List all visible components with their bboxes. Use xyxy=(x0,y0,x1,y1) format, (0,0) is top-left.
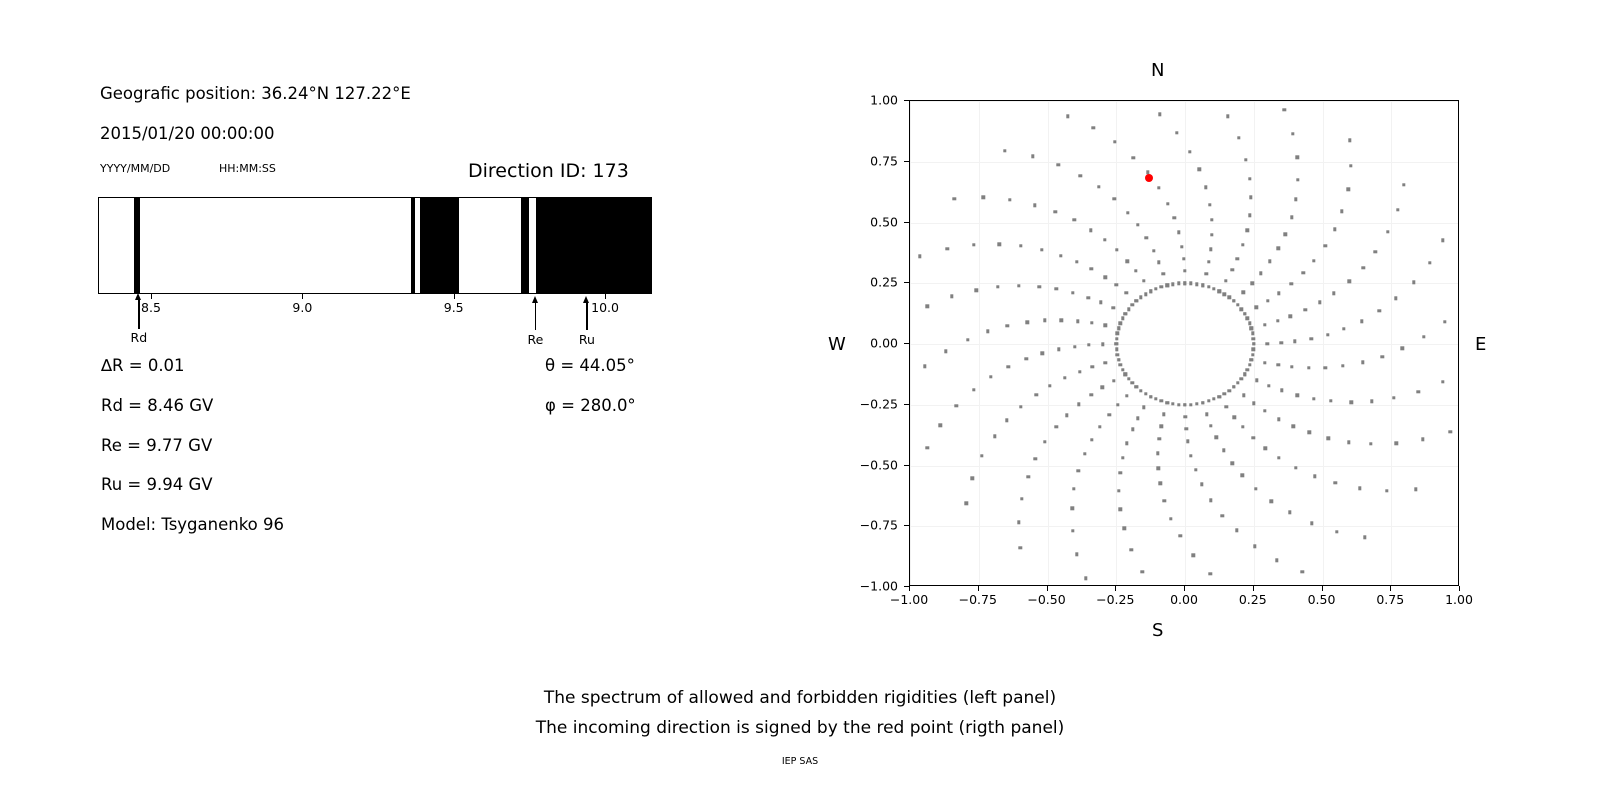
direction-dot xyxy=(1210,218,1213,221)
direction-dot xyxy=(1252,342,1255,345)
direction-dot xyxy=(1230,268,1233,271)
direction-dot xyxy=(1428,261,1431,264)
direction-dot xyxy=(1177,231,1180,234)
direction-dot xyxy=(1396,208,1399,211)
direction-dot xyxy=(1026,475,1029,478)
x-axis-tick-label: −0.25 xyxy=(1096,592,1134,607)
direction-dot xyxy=(953,197,956,200)
direction-dot xyxy=(1117,489,1120,492)
direction-dot xyxy=(1182,257,1185,260)
y-axis-tick-label: −0.75 xyxy=(860,518,898,533)
direction-dot xyxy=(1142,406,1145,409)
direction-dot xyxy=(1224,279,1227,282)
direction-dot xyxy=(1142,279,1145,282)
direction-dot xyxy=(1116,332,1119,335)
direction-dot xyxy=(1346,188,1349,191)
direction-dot xyxy=(1129,548,1132,551)
direction-dot xyxy=(1065,413,1068,416)
direction-dot xyxy=(1307,366,1310,369)
direction-dot xyxy=(1033,204,1036,207)
y-axis-tick-label: −0.50 xyxy=(860,457,898,472)
direction-dot xyxy=(1198,168,1201,171)
y-axis-tick-label: 1.00 xyxy=(870,93,898,108)
direction-dot xyxy=(1244,158,1247,161)
direction-dot xyxy=(1340,209,1343,212)
direction-dot xyxy=(1145,236,1148,239)
direction-dot xyxy=(1126,211,1129,214)
direction-dot xyxy=(1157,466,1160,469)
direction-dot xyxy=(1347,440,1350,443)
direction-dot xyxy=(944,350,947,353)
x-axis-tick xyxy=(1184,586,1185,591)
direction-dot xyxy=(1103,238,1106,241)
direction-dot xyxy=(986,330,989,333)
rigidity-axis-tick xyxy=(605,294,606,299)
direction-dot xyxy=(1255,306,1258,309)
forbidden-band xyxy=(536,198,652,293)
y-axis-tick-label: 0.00 xyxy=(870,336,898,351)
direction-dot xyxy=(1209,424,1212,427)
direction-dot xyxy=(1132,156,1135,159)
direction-dot xyxy=(1277,247,1280,250)
direction-dot xyxy=(1134,269,1137,272)
direction-dot xyxy=(1090,393,1093,396)
direction-dot xyxy=(1277,456,1280,459)
direction-dot xyxy=(1019,405,1022,408)
direction-dot xyxy=(1054,287,1057,290)
forbidden-band xyxy=(420,198,459,293)
direction-dot xyxy=(1250,358,1253,361)
gridline-vertical xyxy=(1048,101,1049,585)
direction-dot xyxy=(1443,320,1446,323)
direction-dot xyxy=(1361,266,1364,269)
direction-dot xyxy=(980,454,983,457)
direction-dot xyxy=(1253,544,1256,547)
datetime-label: 2015/01/20 00:00:00 xyxy=(100,124,274,143)
direction-dot xyxy=(1333,228,1336,231)
direction-dot xyxy=(1441,239,1444,242)
direction-dot xyxy=(1245,228,1248,231)
direction-dot xyxy=(1177,403,1180,406)
direction-dot xyxy=(926,304,929,307)
direction-dot xyxy=(1341,364,1344,367)
direction-dot xyxy=(1090,438,1093,441)
direction-dot xyxy=(1232,415,1235,418)
direction-dot xyxy=(1251,332,1254,335)
direction-dot xyxy=(1059,254,1062,257)
rigidity-axis-tick xyxy=(454,294,455,299)
direction-dot xyxy=(1209,499,1212,502)
rigidity-marker-ru-label: Ru xyxy=(579,332,595,347)
direction-dot xyxy=(1392,396,1395,399)
direction-dot xyxy=(1116,403,1119,406)
direction-dot xyxy=(1254,487,1257,490)
direction-dot xyxy=(1267,384,1270,387)
direction-dot xyxy=(1209,248,1212,251)
direction-dot xyxy=(1123,527,1126,530)
direction-dot xyxy=(1131,428,1134,431)
y-axis-tick-label: 0.50 xyxy=(870,214,898,229)
direction-dot xyxy=(966,338,969,341)
x-axis-tick-label: 1.00 xyxy=(1445,592,1473,607)
rigidity-spectrum-panel: Geografic position: 36.24°N 127.22°E 201… xyxy=(0,0,740,660)
direction-dot xyxy=(1301,271,1304,274)
direction-dot xyxy=(1117,327,1120,330)
y-axis-tick xyxy=(904,100,909,101)
direction-dot xyxy=(1207,399,1210,402)
direction-dot xyxy=(1020,497,1023,500)
direction-dot xyxy=(1289,315,1292,318)
direction-dot xyxy=(1121,317,1124,320)
x-axis-tick xyxy=(1047,586,1048,591)
direction-dot xyxy=(1242,394,1245,397)
direction-dot xyxy=(1118,508,1121,511)
y-axis-tick xyxy=(904,282,909,283)
direction-dot xyxy=(1324,366,1327,369)
direction-dot xyxy=(1159,425,1162,428)
arrow-shaft xyxy=(586,302,587,330)
direction-dot xyxy=(1381,355,1384,358)
direction-dot xyxy=(1171,282,1174,285)
direction-dot xyxy=(1416,390,1419,393)
direction-dot xyxy=(1268,260,1271,263)
direction-dot xyxy=(1152,249,1155,252)
rigidity-axis-tick xyxy=(302,294,303,299)
direction-dot xyxy=(1395,442,1398,445)
direction-dot xyxy=(1079,174,1082,177)
direction-dot xyxy=(1248,322,1251,325)
direction-dot xyxy=(971,477,974,480)
direction-dot xyxy=(1115,348,1118,351)
direction-dot xyxy=(1173,216,1176,219)
direction-dot xyxy=(1212,397,1215,400)
direction-dot xyxy=(1241,291,1244,294)
direction-dot xyxy=(1179,534,1182,537)
direction-dot xyxy=(1189,282,1192,285)
direction-dot xyxy=(1236,381,1239,384)
direction-dot xyxy=(1246,368,1249,371)
direction-dot xyxy=(1169,517,1172,520)
direction-dot xyxy=(1071,506,1074,509)
direction-dot xyxy=(1275,558,1278,561)
direction-dot xyxy=(1280,389,1283,392)
param-re: Re = 9.77 GV xyxy=(101,436,212,455)
y-axis-tick-label: 0.75 xyxy=(870,153,898,168)
direction-dot xyxy=(1236,257,1239,260)
direction-map-panel: N W E S −1.00−0.75−0.50−0.250.000.250.50… xyxy=(820,40,1540,650)
direction-dot xyxy=(1288,511,1291,514)
direction-dot xyxy=(1098,425,1101,428)
direction-dot xyxy=(1162,272,1165,275)
direction-dot xyxy=(1263,409,1266,412)
direction-dot xyxy=(1421,438,1424,441)
rigidity-marker-re-arrow xyxy=(528,296,542,330)
direction-dot xyxy=(1204,185,1207,188)
direction-dot xyxy=(1358,486,1361,489)
direction-dot xyxy=(945,247,948,250)
direction-dot xyxy=(1312,259,1315,262)
direction-dot xyxy=(1175,131,1178,134)
y-axis-tick-label: 0.25 xyxy=(870,275,898,290)
direction-dot xyxy=(965,501,968,504)
direction-dot xyxy=(1090,321,1093,324)
direction-dot xyxy=(1035,393,1038,396)
direction-dot xyxy=(1126,259,1129,262)
direction-dot xyxy=(1131,381,1134,384)
direction-dot xyxy=(1248,177,1251,180)
direction-dot xyxy=(1296,156,1299,159)
direction-dot xyxy=(996,285,999,288)
direction-dot xyxy=(1043,319,1046,322)
direction-dot xyxy=(1207,285,1210,288)
param-ru: Ru = 9.94 GV xyxy=(101,475,213,494)
forbidden-band xyxy=(521,198,529,293)
direction-dot xyxy=(1083,452,1086,455)
direction-dot xyxy=(1223,392,1226,395)
direction-dot xyxy=(1250,327,1253,330)
gridline-horizontal xyxy=(910,101,1458,102)
direction-dot xyxy=(1139,389,1142,392)
rigidity-axis: 8.59.09.510.0RdReRu xyxy=(98,294,652,346)
param-rd: Rd = 8.46 GV xyxy=(101,396,213,415)
direction-dot xyxy=(1017,521,1020,524)
direction-dot xyxy=(1283,233,1286,236)
gridline-vertical xyxy=(979,101,980,585)
direction-dot xyxy=(1266,299,1269,302)
direction-dot xyxy=(1277,291,1280,294)
direction-dot xyxy=(1227,296,1230,299)
direction-dot xyxy=(1026,321,1029,324)
direction-dot xyxy=(1114,283,1117,286)
direction-scatter-plot xyxy=(909,100,1459,586)
direction-dot xyxy=(1163,499,1166,502)
direction-dot xyxy=(1119,471,1122,474)
direction-dot xyxy=(1149,290,1152,293)
direction-dot xyxy=(1347,280,1350,283)
direction-dot xyxy=(1072,218,1075,221)
direction-dot xyxy=(1135,299,1138,302)
param-theta: θ = 44.05° xyxy=(545,356,635,375)
direction-dot xyxy=(1412,280,1415,283)
direction-dot xyxy=(1402,183,1405,186)
direction-dot xyxy=(1361,361,1364,364)
direction-dot xyxy=(1290,365,1293,368)
direction-dot xyxy=(1125,394,1128,397)
direction-dot xyxy=(1349,164,1352,167)
direction-dot xyxy=(1158,437,1161,440)
gridline-vertical xyxy=(910,101,911,585)
direction-dot xyxy=(1091,365,1094,368)
direction-dot xyxy=(1092,126,1095,129)
direction-dot xyxy=(1072,487,1075,490)
x-axis-tick xyxy=(1115,586,1116,591)
direction-dot xyxy=(1218,290,1221,293)
direction-dot xyxy=(1008,198,1011,201)
direction-dot xyxy=(993,435,996,438)
direction-dot xyxy=(1342,327,1345,330)
direction-dot xyxy=(1241,243,1244,246)
direction-dot xyxy=(1255,379,1258,382)
gridline-horizontal xyxy=(910,466,1458,467)
direction-dot xyxy=(1188,150,1191,153)
direction-dot xyxy=(1252,402,1255,405)
direction-dot xyxy=(1276,319,1279,322)
direction-dot xyxy=(1149,395,1152,398)
direction-dot xyxy=(1290,282,1293,285)
direction-dot xyxy=(1019,546,1022,549)
direction-dot xyxy=(1332,292,1335,295)
direction-dot xyxy=(1090,267,1093,270)
direction-dot xyxy=(1159,482,1162,485)
direction-dot xyxy=(1184,415,1187,418)
direction-dot xyxy=(1166,202,1169,205)
direction-dot xyxy=(1189,403,1192,406)
direction-dot xyxy=(1329,399,1332,402)
x-axis-tick xyxy=(1322,586,1323,591)
direction-dot xyxy=(1348,139,1351,142)
direction-dot xyxy=(1360,319,1363,322)
x-axis-tick-label: −0.50 xyxy=(1027,592,1065,607)
rigidity-axis-tick-label: 10.0 xyxy=(591,300,619,315)
direction-dot xyxy=(1310,522,1313,525)
direction-dot xyxy=(1103,275,1106,278)
direction-dot xyxy=(1241,425,1244,428)
direction-dot xyxy=(1113,197,1116,200)
direction-dot xyxy=(1075,552,1078,555)
gridline-horizontal xyxy=(910,162,1458,163)
forbidden-band xyxy=(134,198,140,293)
direction-dot xyxy=(1112,379,1115,382)
direction-dot xyxy=(998,243,1001,246)
direction-dot xyxy=(1370,400,1373,403)
direction-dot xyxy=(1212,287,1215,290)
y-axis-tick xyxy=(904,465,909,466)
param-model: Model: Tsyganenko 96 xyxy=(101,515,284,534)
rigidity-marker-re-label: Re xyxy=(528,332,544,347)
direction-dot xyxy=(1048,384,1051,387)
direction-dot xyxy=(1121,368,1124,371)
direction-dot xyxy=(1115,337,1118,340)
direction-dot xyxy=(1119,322,1122,325)
direction-dot xyxy=(1063,376,1066,379)
direction-dot xyxy=(1084,577,1087,580)
gridline-vertical xyxy=(1185,101,1186,585)
direction-dot xyxy=(1136,416,1139,419)
direction-dot xyxy=(1292,425,1295,428)
direction-dot xyxy=(1078,370,1081,373)
direction-dot xyxy=(1136,223,1139,226)
direction-dot xyxy=(1251,353,1254,356)
direction-dot xyxy=(1127,307,1130,310)
direction-dot xyxy=(1166,401,1169,404)
direction-dot xyxy=(1232,299,1235,302)
direction-dot xyxy=(1194,468,1197,471)
direction-dot xyxy=(1125,442,1128,445)
direction-dot xyxy=(1057,163,1060,166)
rigidity-marker-rd-arrow xyxy=(132,293,146,329)
direction-dot xyxy=(1248,213,1251,216)
x-axis-tick xyxy=(1390,586,1391,591)
caption-line-2: The incoming direction is signed by the … xyxy=(0,718,1600,738)
direction-dot xyxy=(1005,419,1008,422)
direction-dot xyxy=(972,243,975,246)
direction-dot xyxy=(1240,307,1243,310)
direction-dot xyxy=(1277,417,1280,420)
direction-dot xyxy=(1246,317,1249,320)
direction-dot xyxy=(1071,291,1074,294)
direction-dot xyxy=(1201,284,1204,287)
direction-dot xyxy=(1369,442,1372,445)
gridline-vertical xyxy=(1391,101,1392,585)
direction-dot xyxy=(1186,439,1189,442)
direction-dot xyxy=(1108,413,1111,416)
param-delta-r: ∆R = 0.01 xyxy=(101,356,185,375)
param-phi: φ = 280.0° xyxy=(545,396,636,415)
direction-dot xyxy=(1280,341,1283,344)
direction-dot xyxy=(1104,324,1107,327)
x-axis-tick-label: −1.00 xyxy=(890,592,928,607)
direction-dot xyxy=(1249,196,1252,199)
direction-dot xyxy=(1207,260,1210,263)
time-format-hint: HH:MM:SS xyxy=(219,162,276,175)
direction-dot xyxy=(1034,457,1037,460)
rigidity-marker-rd-label: Rd xyxy=(131,330,148,345)
rigidity-spectrum-bar xyxy=(98,197,652,294)
direction-dot xyxy=(1363,535,1366,538)
x-axis-tick xyxy=(909,586,910,591)
rigidity-marker-ru-arrow xyxy=(580,296,594,330)
compass-east-label: E xyxy=(1475,334,1486,355)
rigidity-axis-tick-label: 9.5 xyxy=(444,300,464,315)
direction-dot xyxy=(1201,401,1204,404)
direction-dot xyxy=(1166,284,1169,287)
direction-dot xyxy=(1119,363,1122,366)
direction-dot xyxy=(1400,346,1403,349)
direction-dot xyxy=(1252,337,1255,340)
direction-dot xyxy=(1115,248,1118,251)
gridline-horizontal xyxy=(910,526,1458,527)
direction-dot xyxy=(926,446,929,449)
direction-dot xyxy=(1006,365,1009,368)
direction-dot xyxy=(972,388,975,391)
rigidity-axis-tick xyxy=(151,294,152,299)
direction-dot xyxy=(1162,413,1165,416)
direction-dot xyxy=(1073,345,1076,348)
direction-dot xyxy=(1104,361,1107,364)
direction-dot xyxy=(1310,337,1313,340)
direction-dot xyxy=(1125,291,1128,294)
arrow-shaft xyxy=(535,302,536,330)
direction-dot xyxy=(1117,358,1120,361)
direction-dot xyxy=(1183,282,1186,285)
direction-dot xyxy=(1208,203,1211,206)
direction-dot xyxy=(1006,324,1009,327)
direction-dot xyxy=(1449,430,1452,433)
direction-dot xyxy=(1218,395,1221,398)
direction-dot xyxy=(1441,380,1444,383)
direction-dot xyxy=(1112,306,1115,309)
direction-dot xyxy=(1184,427,1187,430)
direction-dot xyxy=(955,404,958,407)
direction-dot xyxy=(1293,340,1296,343)
direction-dot xyxy=(1139,296,1142,299)
direction-dot xyxy=(1414,488,1417,491)
direction-dot xyxy=(1205,413,1208,416)
direction-dot xyxy=(1183,403,1186,406)
direction-dot xyxy=(1101,343,1104,346)
direction-dot xyxy=(1054,425,1057,428)
y-axis-tick-label: −0.25 xyxy=(860,396,898,411)
